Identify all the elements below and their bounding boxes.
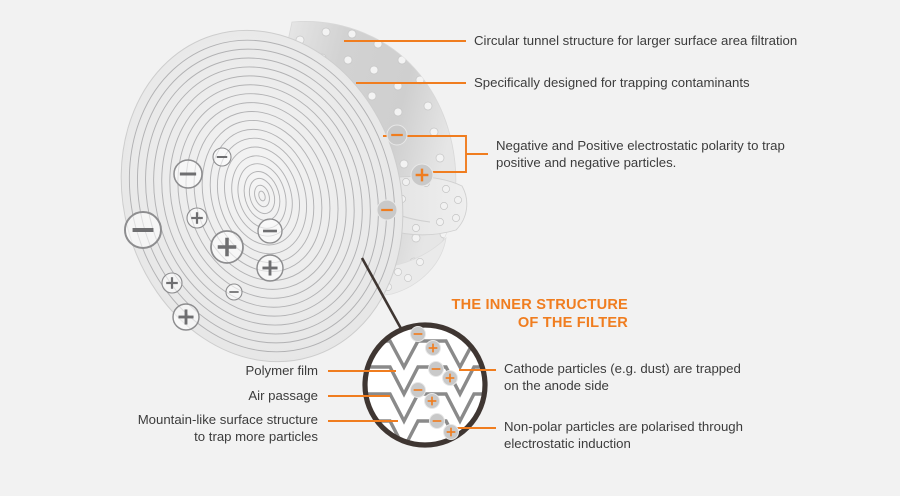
positive-charge-icon bbox=[411, 164, 433, 186]
positive-charge-icon bbox=[425, 394, 440, 409]
positive-charge-icon bbox=[211, 231, 243, 263]
callout-mountain-like-surface: Mountain-like surface structure to trap … bbox=[100, 412, 318, 445]
diagram-canvas: Circular tunnel structure for larger sur… bbox=[0, 0, 900, 496]
negative-charge-icon bbox=[377, 200, 397, 220]
negative-charge-icon bbox=[429, 362, 444, 377]
negative-charge-icon bbox=[258, 219, 282, 243]
callout-polymer-film: Polymer film bbox=[118, 363, 318, 380]
callout-non-polar-particles: Non-polar particles are polarised throug… bbox=[504, 419, 834, 452]
positive-charge-icon bbox=[173, 304, 199, 330]
inset-title: THE INNER STRUCTURE OF THE FILTER bbox=[400, 296, 628, 332]
callout-circular-tunnel: Circular tunnel structure for larger sur… bbox=[474, 33, 874, 50]
positive-charge-icon bbox=[257, 255, 283, 281]
negative-charge-icon bbox=[125, 212, 161, 248]
negative-charge-icon bbox=[213, 148, 231, 166]
positive-charge-icon bbox=[187, 208, 207, 228]
negative-charge-icon bbox=[387, 125, 407, 145]
positive-charge-icon bbox=[162, 273, 182, 293]
negative-charge-icon bbox=[226, 284, 242, 300]
positive-charge-icon bbox=[443, 371, 458, 386]
callout-electrostatic-polarity: Negative and Positive electrostatic pola… bbox=[496, 138, 886, 171]
negative-charge-icon bbox=[430, 414, 445, 429]
negative-charge-icon bbox=[411, 383, 426, 398]
callout-trapping-contaminants: Specifically designed for trapping conta… bbox=[474, 75, 874, 92]
positive-charge-icon bbox=[426, 341, 441, 356]
negative-charge-icon bbox=[174, 160, 202, 188]
callout-air-passage: Air passage bbox=[118, 388, 318, 405]
callout-cathode-particles: Cathode particles (e.g. dust) are trappe… bbox=[504, 361, 834, 394]
positive-charge-icon bbox=[444, 425, 459, 440]
